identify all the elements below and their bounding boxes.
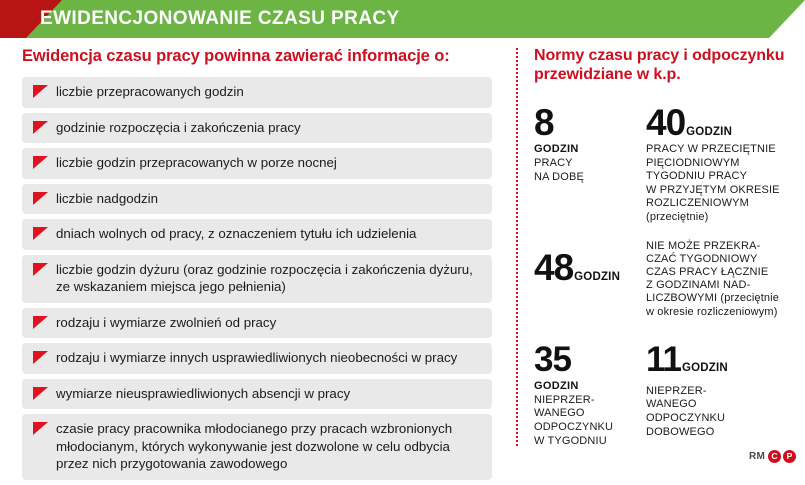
list-item-label: liczbie godzin przepracowanych w porze n…	[56, 155, 337, 170]
left-column: Ewidencja czasu pracy powinna zawierać i…	[22, 46, 492, 485]
copyright-c-icon: C	[768, 450, 781, 463]
copyright-p-icon: P	[783, 450, 796, 463]
requirements-list: liczbie przepracowanych godzin godzinie …	[22, 77, 492, 480]
stat-number: 48	[534, 249, 573, 287]
stat-number: 35	[534, 341, 571, 379]
list-item: czasie pracy pracownika młodocianego prz…	[22, 414, 492, 480]
stat-unit: GODZIN	[686, 126, 732, 138]
list-item: liczbie godzin dyżuru (oraz godzinie roz…	[22, 255, 492, 303]
right-column: Normy czasu pracy i odpoczynku przewidzi…	[534, 46, 796, 448]
list-item-label: wymiarze nieusprawiedliwionych absencji …	[56, 386, 350, 401]
list-item-label: liczbie godzin dyżuru (oraz godzinie roz…	[56, 262, 473, 295]
stat-number: 11	[646, 341, 681, 379]
list-item: godzinie rozpoczęcia i zakończenia pracy	[22, 113, 492, 144]
left-column-heading: Ewidencja czasu pracy powinna zawierać i…	[22, 46, 492, 66]
stat-description: NIEPRZER- WANEGO ODPOCZYNKU W TYGODNIU	[534, 394, 646, 448]
stat-35-hours-weekly-rest: 35 GODZIN NIEPRZER- WANEGO ODPOCZYNKU W …	[534, 341, 646, 448]
page-title: EWIDENCJONOWANIE CZASU PRACY	[40, 0, 400, 38]
list-item-label: rodzaju i wymiarze zwolnień od pracy	[56, 315, 276, 330]
stat-unit: GODZIN	[682, 362, 728, 374]
list-item: rodzaju i wymiarze innych usprawiedliwio…	[22, 343, 492, 374]
list-item: rodzaju i wymiarze zwolnień od pracy	[22, 308, 492, 339]
stat-number: 40	[646, 104, 685, 142]
norms-stats-grid: 8 GODZIN PRACY NA DOBĘ 40GODZIN PRACY W …	[534, 104, 796, 448]
red-flag-icon	[33, 121, 48, 135]
list-item: liczbie nadgodzin	[22, 184, 492, 215]
red-flag-icon	[33, 192, 48, 206]
stat-11-hours-daily-rest: 11GODZIN NIEPRZER- WANEGO ODPOCZYNKU DOB…	[646, 341, 796, 439]
list-item: dniach wolnych od pracy, z oznaczeniem t…	[22, 219, 492, 250]
stat-description: PRACY NA DOBĘ	[534, 157, 646, 184]
list-item-label: dniach wolnych od pracy, z oznaczeniem t…	[56, 226, 416, 241]
stat-row: 48GODZIN NIE MOŻE PRZEKRA- CZAĆ TYGODNIO…	[534, 239, 796, 319]
stat-number: 8	[534, 104, 554, 142]
list-item-label: godzinie rozpoczęcia i zakończenia pracy	[56, 120, 301, 135]
red-flag-icon	[33, 351, 48, 365]
stat-8-hours-per-day: 8 GODZIN PRACY NA DOBĘ	[534, 104, 646, 184]
list-item-label: rodzaju i wymiarze innych usprawiedliwio…	[56, 350, 457, 365]
stat-48-hours-max-week: 48GODZIN	[534, 249, 646, 287]
list-item-label: liczbie przepracowanych godzin	[56, 84, 244, 99]
red-flag-icon	[33, 156, 48, 170]
column-divider	[516, 48, 518, 446]
red-flag-icon	[33, 387, 48, 401]
right-column-heading: Normy czasu pracy i odpoczynku przewidzi…	[534, 46, 796, 84]
list-item: liczbie przepracowanych godzin	[22, 77, 492, 108]
page-header: EWIDENCJONOWANIE CZASU PRACY	[0, 0, 805, 38]
red-flag-icon	[33, 85, 48, 99]
stat-unit: GODZIN	[534, 380, 646, 393]
stat-description: PRACY W PRZECIĘTNIE PIĘCIODNIOWYM TYGODN…	[646, 143, 796, 225]
stat-40-hours-per-week: 40GODZIN PRACY W PRZECIĘTNIE PIĘCIODNIOW…	[646, 104, 796, 225]
red-flag-icon	[33, 227, 48, 241]
stat-description: NIEPRZER- WANEGO ODPOCZYNKU DOBOWEGO	[646, 385, 796, 439]
rmcp-logo: RM C P	[749, 450, 796, 463]
stat-description: NIE MOŻE PRZEKRA- CZAĆ TYGODNIOWY CZAS P…	[646, 240, 796, 319]
list-item-label: liczbie nadgodzin	[56, 191, 158, 206]
stat-row: 35 GODZIN NIEPRZER- WANEGO ODPOCZYNKU W …	[534, 341, 796, 448]
list-item-label: czasie pracy pracownika młodocianego prz…	[56, 421, 452, 471]
logo-text: RM	[749, 451, 765, 462]
red-flag-icon	[33, 422, 48, 436]
stat-unit: GODZIN	[534, 143, 646, 156]
list-item: wymiarze nieusprawiedliwionych absencji …	[22, 379, 492, 410]
list-item: liczbie godzin przepracowanych w porze n…	[22, 148, 492, 179]
red-flag-icon	[33, 316, 48, 330]
stat-unit: GODZIN	[574, 271, 620, 283]
red-flag-icon	[33, 263, 48, 277]
stat-row: 8 GODZIN PRACY NA DOBĘ 40GODZIN PRACY W …	[534, 104, 796, 225]
